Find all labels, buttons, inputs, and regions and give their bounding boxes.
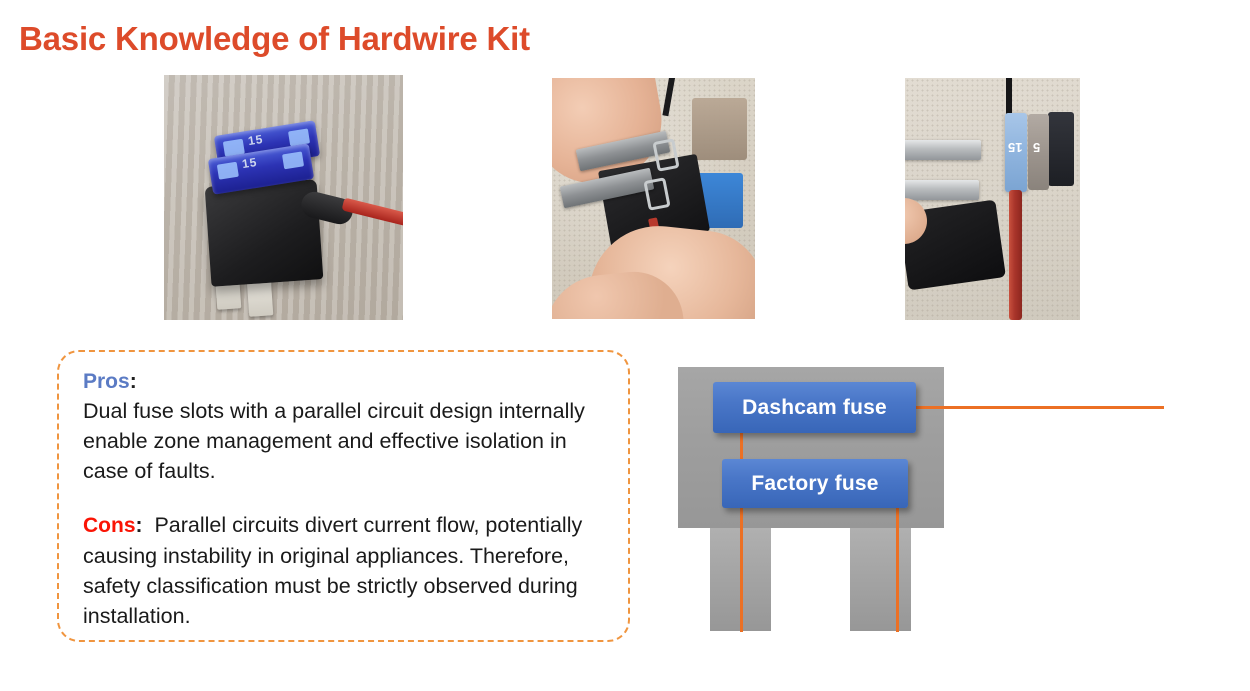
cons-block: Cons: Parallel circuits divert current f… (83, 510, 613, 631)
photo-hardwire-kit-add-a-circuit-fuse-tap: 15 15 (164, 75, 403, 320)
metal-blade-upper (905, 140, 981, 160)
fuse-rating-lower: 15 (241, 155, 258, 171)
slide-root: Basic Knowledge of Hardwire Kit 15 15 (0, 0, 1250, 691)
pros-heading: Pros: (83, 370, 603, 394)
dashcam-fuse-label: Dashcam fuse (742, 396, 887, 420)
factory-fuse-label: Factory fuse (751, 472, 878, 496)
wire-dashcam-to-factory (740, 432, 743, 461)
pros-block: Pros: Dual fuse slots with a parallel ci… (83, 370, 603, 486)
photo-fuse-tap-with-fuses-installed: 15 5 (905, 78, 1080, 320)
fuse-rating-5: 5 (1033, 140, 1040, 155)
pros-cons-callout: Pros: Dual fuse slots with a parallel ci… (57, 350, 630, 642)
dark-connector (1048, 112, 1074, 186)
page-title: Basic Knowledge of Hardwire Kit (19, 20, 530, 58)
wire-dashcam-output (915, 406, 1164, 409)
beige-fuse (692, 98, 747, 160)
photo-hands-holding-fuse-tap (552, 78, 755, 319)
cons-text: Parallel circuits divert current flow, p… (83, 513, 582, 628)
factory-fuse-box: Factory fuse (722, 459, 908, 508)
pros-colon: : (130, 370, 137, 393)
pros-keyword: Pros (83, 370, 130, 393)
dashcam-fuse-box: Dashcam fuse (713, 382, 916, 433)
pros-text: Dual fuse slots with a parallel circuit … (83, 396, 603, 486)
cons-keyword: Cons (83, 514, 136, 537)
black-cable (1006, 78, 1012, 114)
wire-left-leg (740, 507, 743, 632)
wire-right-leg (896, 507, 899, 632)
fusebox-diagram: Dashcam fuse Factory fuse (660, 350, 1240, 650)
fusebox-leg-right (850, 528, 911, 631)
cons-colon: : (136, 514, 143, 537)
cons-paragraph: Cons: Parallel circuits divert current f… (83, 510, 613, 631)
red-power-wire (1009, 190, 1022, 320)
metal-blade-lower (905, 180, 979, 200)
fuse-rating-upper: 15 (247, 132, 264, 148)
fuse-rating-15: 15 (1008, 140, 1022, 155)
